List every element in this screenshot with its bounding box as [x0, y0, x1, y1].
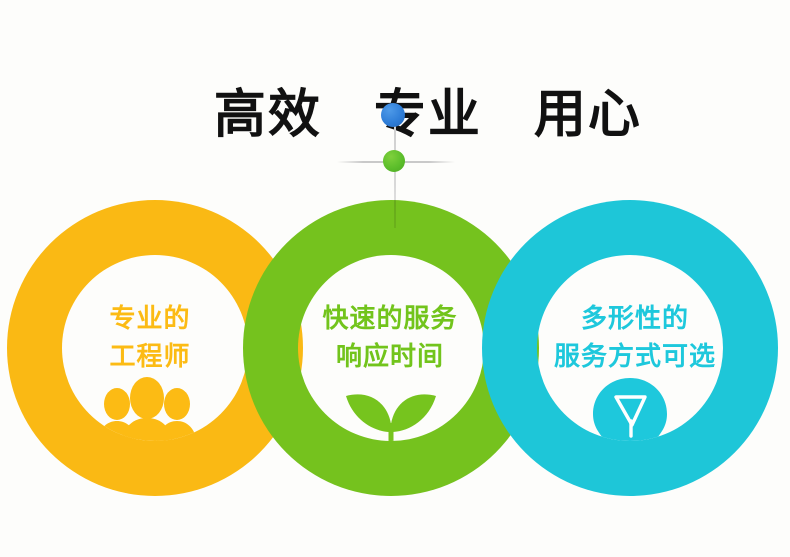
infographic-canvas: 高效专业用心 [0, 0, 790, 557]
venn-rings-graphic [0, 0, 790, 557]
ring-cyan[interactable] [0, 0, 790, 557]
